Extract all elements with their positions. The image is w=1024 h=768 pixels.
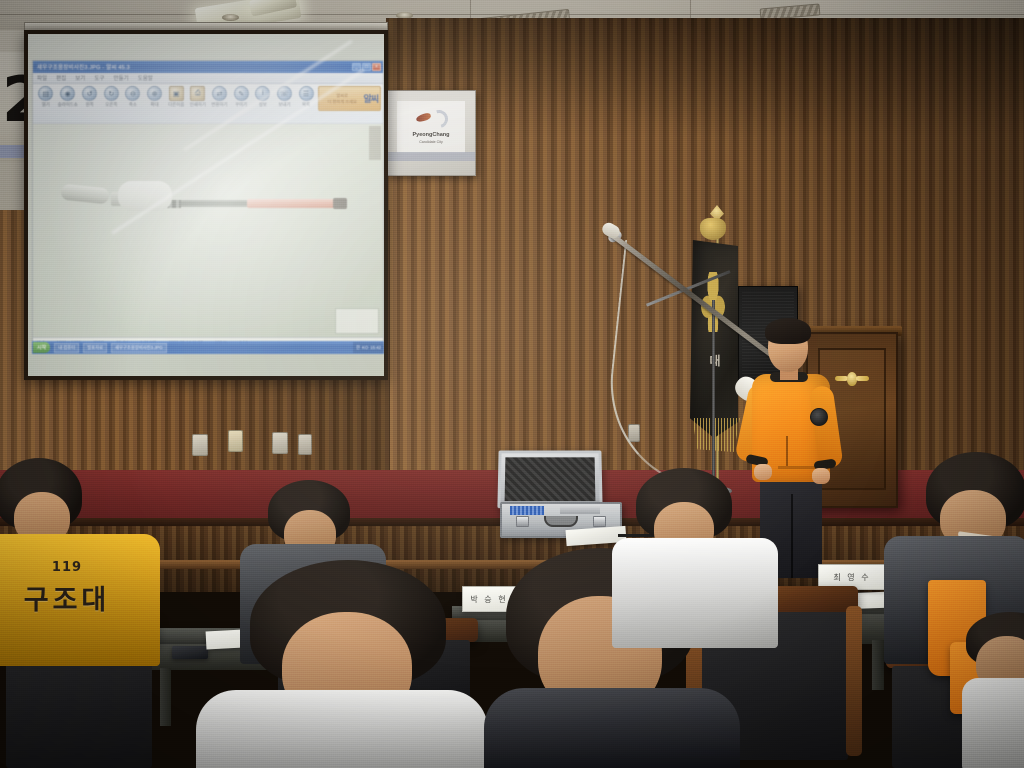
toolbar-label: 다른이름 [168,102,184,108]
taskbar-item[interactable]: 내 컴퓨터 [54,343,79,353]
poster-content: PyeongChang Candidate City [397,101,465,153]
toolbar-label: 축소 [129,102,137,108]
list-icon: ☰ [299,86,314,101]
presenter-right-hand [812,468,830,484]
recessed-downlight [222,14,239,21]
audience-member-mid-center [612,468,782,648]
toolbar-rotate-left-button[interactable]: ↺ 왼쪽 [80,86,100,108]
menu-item-edit[interactable]: 편집 [56,74,66,82]
system-tray[interactable]: 한 KO 15:42 [353,342,384,353]
blue-foam-insert [510,506,544,515]
presenter-hair [765,318,811,344]
tray-language[interactable]: KO [362,345,368,350]
app-window-title: 새우구조용장비사진3.JPG - 알씨 45.3 [35,63,130,71]
projection-screen: 새우구조용장비사진3.JPG - 알씨 45.3 _ □ × 파일 편집 보기 … [24,30,388,380]
placard-text: 최 영 수 [833,572,870,583]
case-latch[interactable] [516,516,529,527]
jacket-logo-119: 119 [0,560,160,575]
equipment-case-lid [497,450,602,508]
grey-tool-tray [560,505,600,514]
toolbar-label: 확대 [151,102,159,108]
olympic-bid-logo-icon [414,110,448,130]
app-titlebar: 새우구조용장비사진3.JPG - 알씨 45.3 _ □ × [33,61,383,73]
white-shirt [196,690,488,768]
poster-subtitle: Candidate City [419,140,443,144]
toolbar-slideshow-button[interactable]: ◉ 슬라이드쇼 [58,86,78,108]
case-foam-lining [505,457,596,501]
toolbar-label: 정보 [259,102,267,108]
outlet-plate [192,434,208,456]
menu-item-file[interactable]: 파일 [37,74,47,82]
menu-item-view[interactable]: 보기 [75,74,85,82]
close-icon[interactable]: × [372,63,381,71]
open-folder-icon: ▤ [38,86,53,101]
outlet-plate [298,434,312,455]
white-shirt [612,538,778,648]
save-icon: ▣ [169,86,184,101]
photo-scene: 2 PyeongChang Candidate City 새우구조용장비사진3.… [0,0,1024,768]
toolbar-open-folder-button[interactable]: ▤ 열기 [36,86,56,108]
data-plate [272,432,288,454]
app-menubar[interactable]: 파일 편집 보기 도구 만들기 도움말 [33,73,383,84]
toolbar-label: 오른쪽 [105,102,117,108]
poster-band [387,152,475,161]
audience-member-front-left: 119 구조대 [0,458,174,688]
taskbar-item[interactable]: 새우구조용장비사진3.JPG [111,343,167,353]
convert-icon: ⇄ [212,86,227,101]
toolbar-rotate-right-button[interactable]: ↻ 오른쪽 [101,86,121,108]
projected-taskbar[interactable]: 시작 내 컴퓨터 발표자료 새우구조용장비사진3.JPG 한 KO 15:42 [32,341,384,354]
menu-item-create[interactable]: 만들기 [114,74,129,82]
case-latch[interactable] [593,516,606,527]
toolbar-save-as-button[interactable]: ▣ 다른이름 [166,86,186,108]
rescue-jacket: 119 구조대 [0,534,160,666]
jacket-back-text: 구조대 [0,578,160,617]
flag-tassel [700,218,726,240]
toolbar-label: 변환하기 [211,102,227,108]
menu-item-help[interactable]: 도움말 [138,74,153,82]
switch-plate [228,430,243,452]
rescue-pole-red-tube [247,199,343,208]
rescue-pole-end-cap [333,198,347,209]
toolbar-label: 열기 [42,102,50,108]
menu-item-tools[interactable]: 도구 [94,74,104,82]
toolbar-zoom-in-button[interactable]: ⊕ 확대 [145,86,165,108]
uniform-zip [786,436,788,466]
microphone-stand [712,300,715,496]
projected-app-window[interactable]: 새우구조용장비사진3.JPG - 알씨 45.3 _ □ × 파일 편집 보기 … [32,60,384,352]
toolbar-label: 보내기 [278,102,290,108]
chair-arm[interactable] [846,606,862,756]
app-promo-banner[interactable]: 알씨로 더 편하게 쓰세요 알씨 [318,86,381,111]
rotate-right-icon: ↻ [104,86,119,101]
canvas-side-strip [369,126,381,160]
white-shirt [962,678,1024,768]
rescue-pole-nose [60,184,109,205]
toolbar-zoom-out-button[interactable]: ⊖ 축소 [123,86,143,108]
dark-shirt [484,688,740,768]
start-button[interactable]: 시작 [33,342,50,353]
toolbar-convert-button[interactable]: ⇄ 변환하기 [210,86,230,108]
rescue-pole-handle [118,181,172,211]
audience-member-far-right [962,612,1024,768]
toolbar-edit-button[interactable]: ✎ 꾸미기 [231,86,251,108]
edit-icon: ✎ [234,86,249,101]
print-icon: ⎙ [190,86,205,101]
toolbar-label: 인쇄하기 [190,102,206,108]
promo-line-2: 더 편하게 쓰세요 [321,99,364,105]
tray-clock[interactable]: 15:42 [370,345,381,350]
case-handle[interactable] [544,516,578,527]
table-leg [872,640,884,690]
tray-ime-indicator[interactable]: 한 [356,345,360,351]
toolbar-label: 슬라이드쇼 [58,102,78,108]
app-image-canvas[interactable] [33,124,383,337]
toolbar-print-button[interactable]: ⎙ 인쇄하기 [188,86,208,108]
zoom-in-icon: ⊕ [147,86,162,101]
window-controls[interactable]: _ □ × [352,63,381,71]
projection-surface: 새우구조용장비사진3.JPG - 알씨 45.3 _ □ × 파일 편집 보기 … [28,34,384,376]
camera-icon: ◉ [60,86,75,101]
audience-member-front-center [196,560,496,768]
rotate-left-icon: ↺ [82,86,97,101]
promo-logo: 알씨 [363,92,378,105]
toolbar-label: 왼쪽 [86,102,94,108]
wall-poster: PyeongChang Candidate City [386,90,476,176]
taskbar-item[interactable]: 발표자료 [83,343,107,353]
poster-title: PyeongChang [413,132,450,138]
canvas-thumbnail-overlay[interactable] [335,308,379,334]
zoom-out-icon: ⊖ [125,86,140,101]
unit-patch [810,408,828,426]
